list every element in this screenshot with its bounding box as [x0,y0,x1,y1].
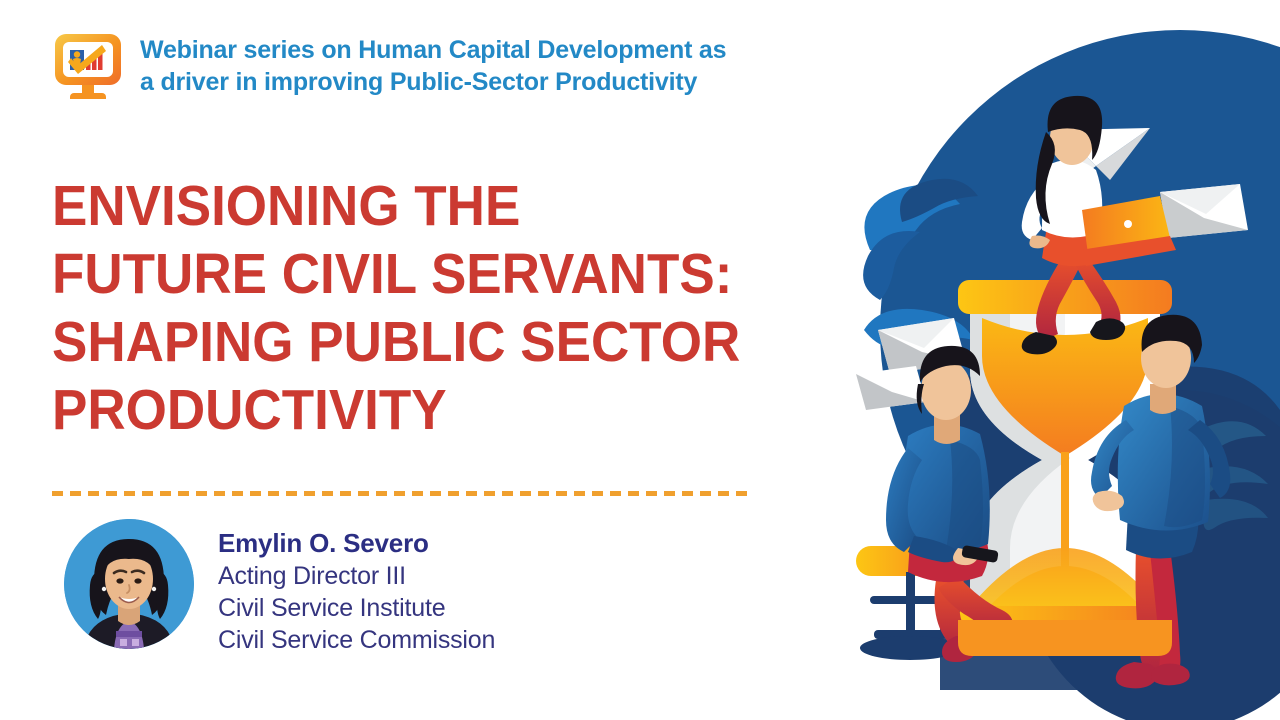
speaker-name: Emylin O. Severo [218,527,495,560]
title-line-2: FUTURE CIVIL SERVANTS: [52,240,759,308]
envelope-icon-top [1160,184,1248,238]
envelope-icon-bottom-left [856,366,926,410]
speaker-info: Emylin O. Severo Acting Director III Civ… [218,519,495,656]
slide-root: Webinar series on Human Capital Developm… [0,0,1280,720]
title-line-3: SHAPING PUBLIC SECTOR [52,308,759,376]
header-title-line-1: Webinar series on Human Capital Developm… [140,34,726,66]
page-title: ENVISIONING THE FUTURE CIVIL SERVANTS: S… [52,172,812,444]
title-line-1: ENVISIONING THE [52,172,759,240]
title-line-4: PRODUCTIVITY [52,376,759,444]
speaker-role-line-2: Civil Service Institute [218,592,495,624]
header-title-line-2: a driver in improving Public-Sector Prod… [140,66,726,98]
dashed-divider [52,491,749,496]
hourglass-productivity-illustration [850,0,1280,720]
speaker-role-line-3: Civil Service Commission [218,624,495,656]
speaker-block: Emylin O. Severo Acting Director III Civ… [64,519,495,656]
header-title: Webinar series on Human Capital Developm… [140,30,726,98]
avatar [64,519,194,649]
header: Webinar series on Human Capital Developm… [52,30,726,102]
monitor-chart-checkmark-logo-icon [52,30,124,102]
speaker-role-line-1: Acting Director III [218,560,495,592]
